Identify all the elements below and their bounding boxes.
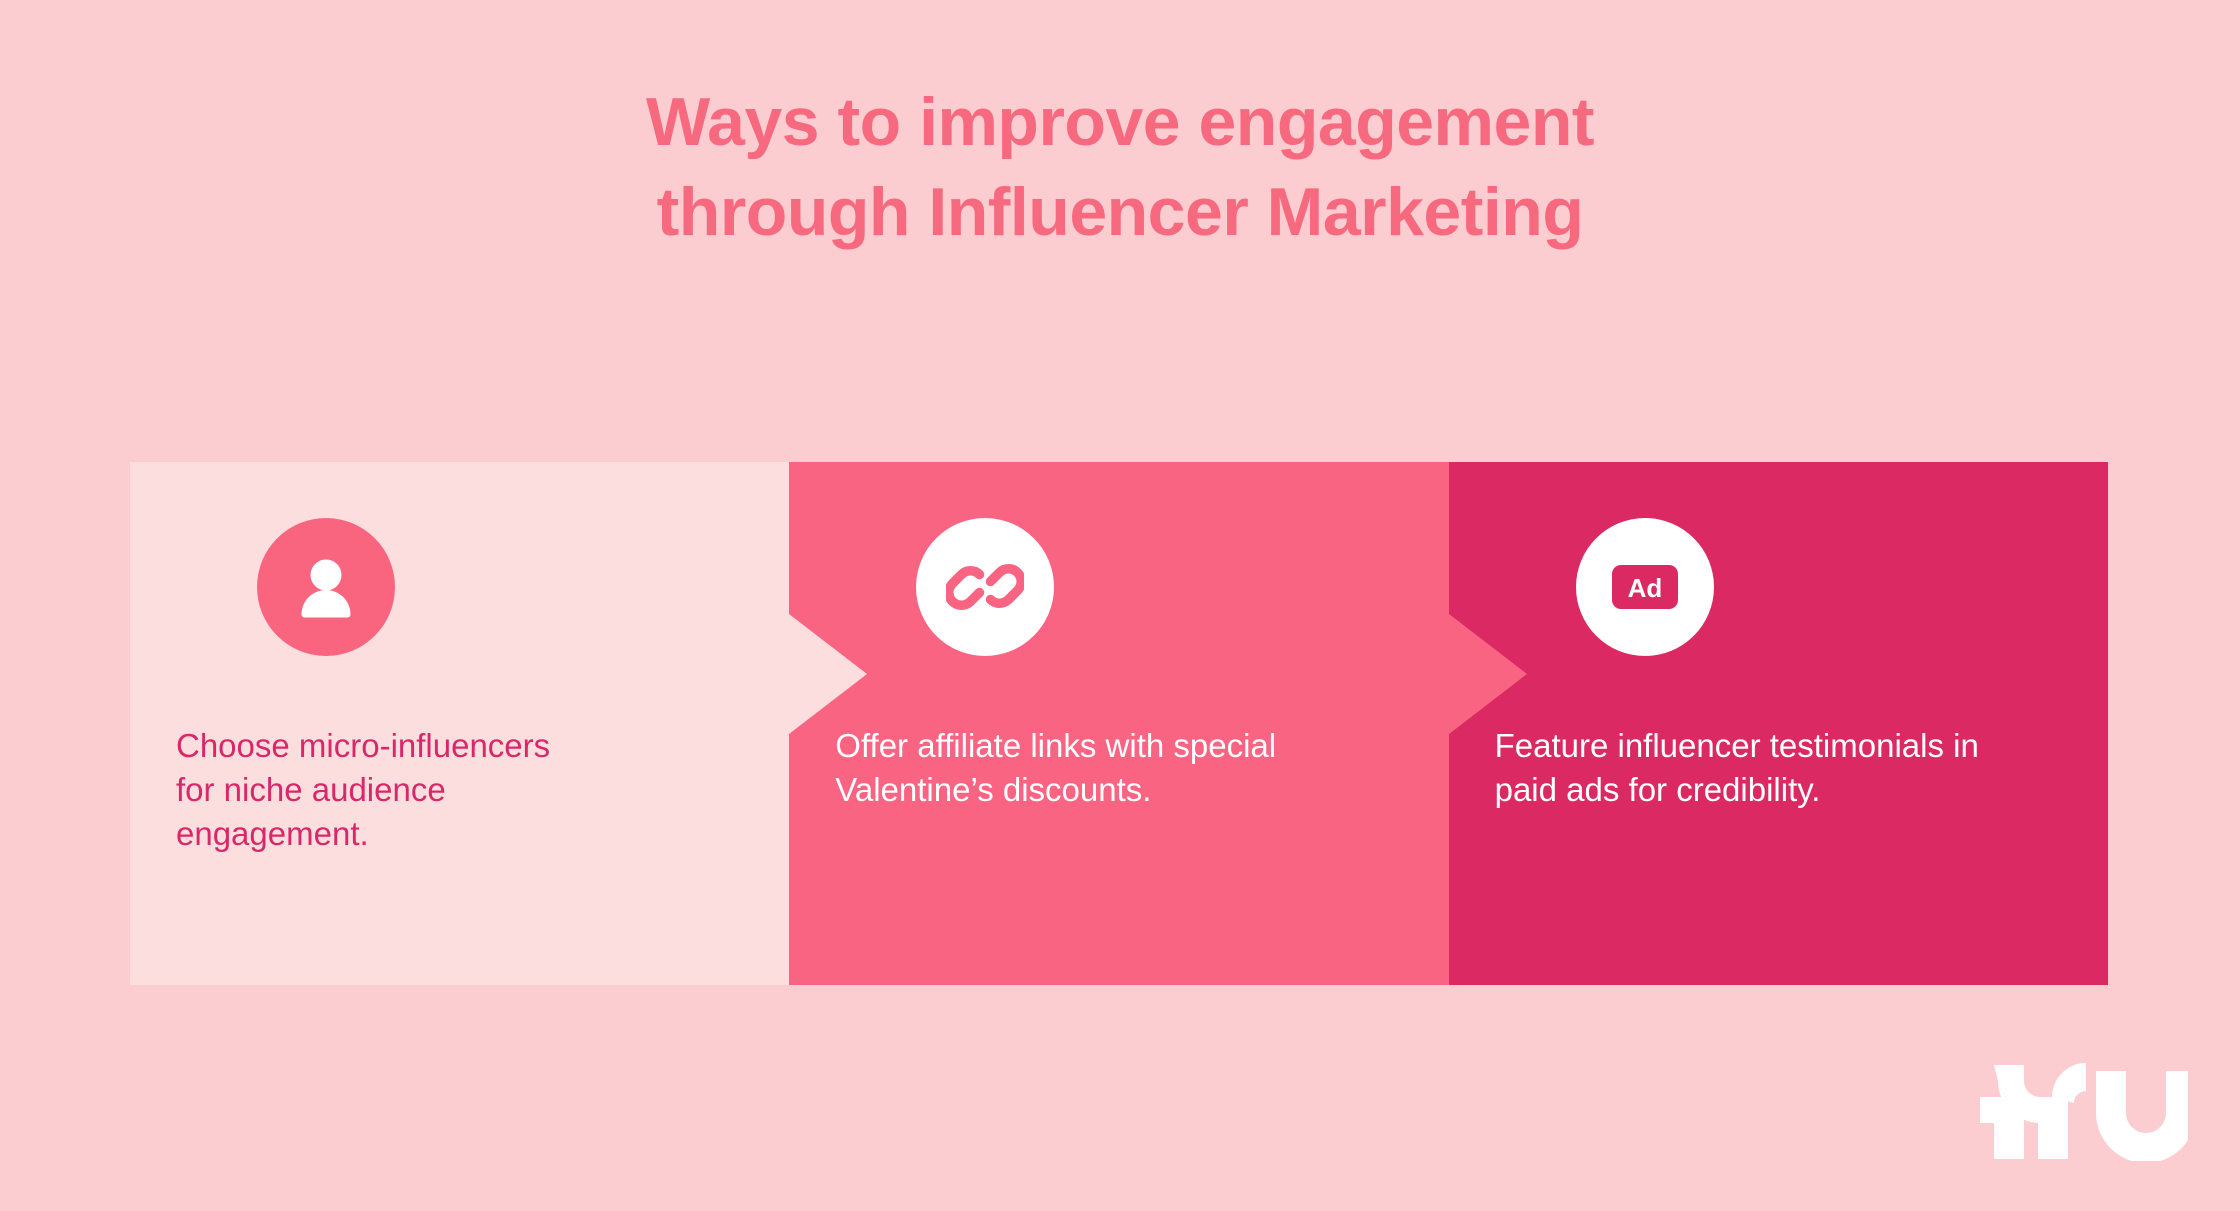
user-icon [257,518,395,656]
page-title-line-1: Ways to improve engagement [0,78,2240,168]
step-card-2[interactable]: Offer affiliate links with special Valen… [789,462,1448,985]
link-icon [916,518,1054,656]
page-title-line-2: through Influencer Marketing [0,168,2240,258]
page-title: Ways to improve engagement through Influ… [0,78,2240,258]
steps-row: Choose micro-influencers for niche audie… [130,462,2108,985]
step-card-1[interactable]: Choose micro-influencers for niche audie… [130,462,789,985]
step-card-3-text: Feature influencer testimonials in paid … [1495,724,2025,812]
step-card-2-icon-wrap [916,518,1054,656]
step-card-1-text: Choose micro-influencers for niche audie… [176,724,576,857]
step-card-3-icon-wrap: Ad [1576,518,1714,656]
tru-logo [1978,1063,2188,1161]
ad-badge-label: Ad [1627,573,1662,603]
step-card-1-icon-wrap [257,518,395,656]
step-card-2-text: Offer affiliate links with special Valen… [835,724,1355,812]
step-card-3[interactable]: Ad Feature influencer testimonials in pa… [1449,462,2108,985]
ad-badge-icon: Ad [1576,518,1714,656]
